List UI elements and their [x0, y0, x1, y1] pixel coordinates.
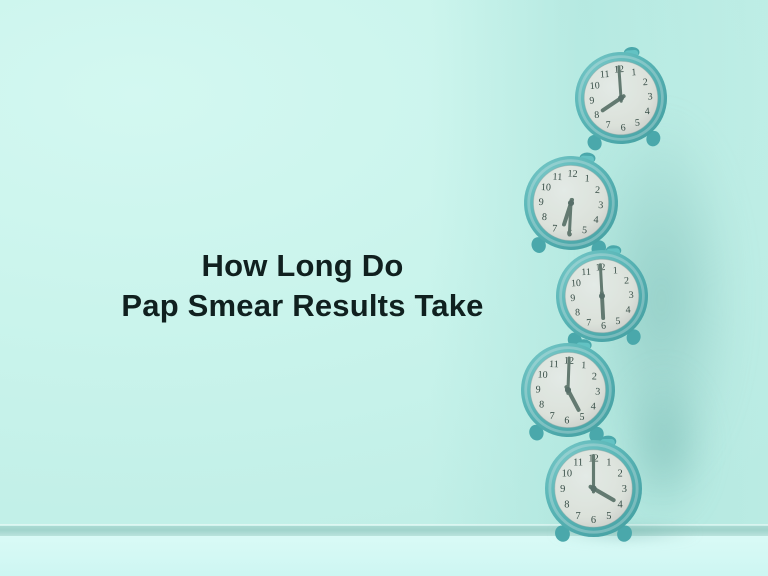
page-title-line-1: How Long Do	[40, 246, 565, 286]
clock-body-shading	[545, 440, 642, 537]
alarm-clock-5: 121234567891011	[529, 424, 658, 553]
page-title: How Long Do Pap Smear Results Take	[40, 246, 565, 326]
featured-image-canvas: 1212345678910111212345678910111212345678…	[0, 0, 768, 576]
page-title-line-2: Pap Smear Results Take	[40, 286, 565, 326]
